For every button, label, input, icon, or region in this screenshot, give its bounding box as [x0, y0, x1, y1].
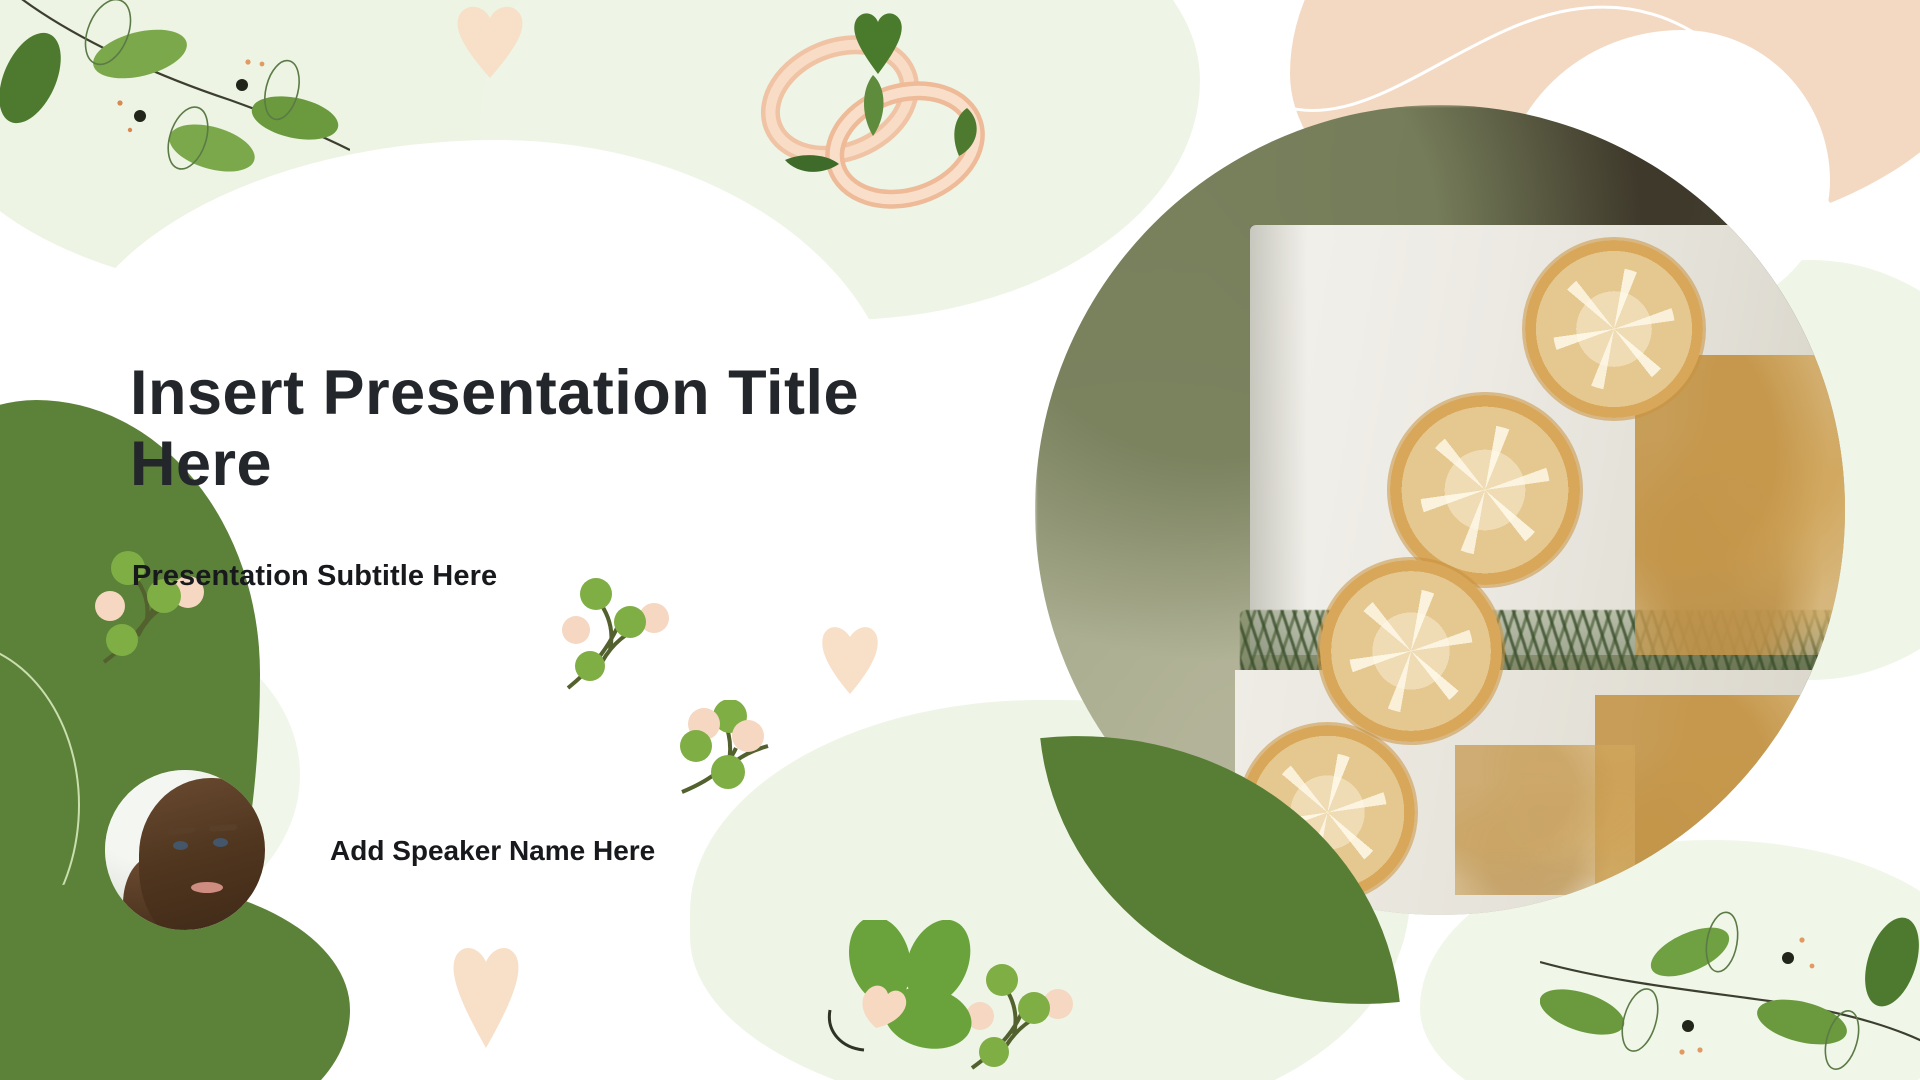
dried-citrus-slice — [1320, 560, 1502, 742]
presentation-slide: Insert Presentation Title Here Presentat… — [0, 0, 1920, 1080]
dried-citrus-slice — [1390, 395, 1580, 585]
cake-edge-shadow — [1250, 225, 1308, 655]
gold-leaf-fleck — [1455, 745, 1635, 895]
heart-peach-center-icon — [818, 620, 882, 696]
heart-leaf-icon — [850, 8, 906, 74]
heart-peach-bottom-icon — [448, 940, 524, 1050]
olive-branch-bottom-right-icon — [1540, 900, 1920, 1080]
clover-leaf-icon — [818, 920, 1028, 1080]
berry-sprig-center-icon — [560, 570, 680, 695]
page-subtitle: Presentation Subtitle Here — [132, 560, 497, 593]
olive-branch-top-left-icon — [0, 0, 350, 210]
speaker-name-label: Add Speaker Name Here — [330, 833, 660, 869]
avatar-hair — [139, 778, 265, 930]
avatar-lips — [191, 882, 223, 893]
berry-sprig-mid-icon — [672, 700, 802, 830]
avatar-eye — [213, 838, 228, 847]
speaker-avatar — [105, 770, 265, 930]
page-title: Insert Presentation Title Here — [130, 358, 940, 499]
heart-peach-top-icon — [450, 0, 530, 80]
avatar-eye — [173, 841, 188, 850]
dried-citrus-slice — [1525, 240, 1703, 418]
